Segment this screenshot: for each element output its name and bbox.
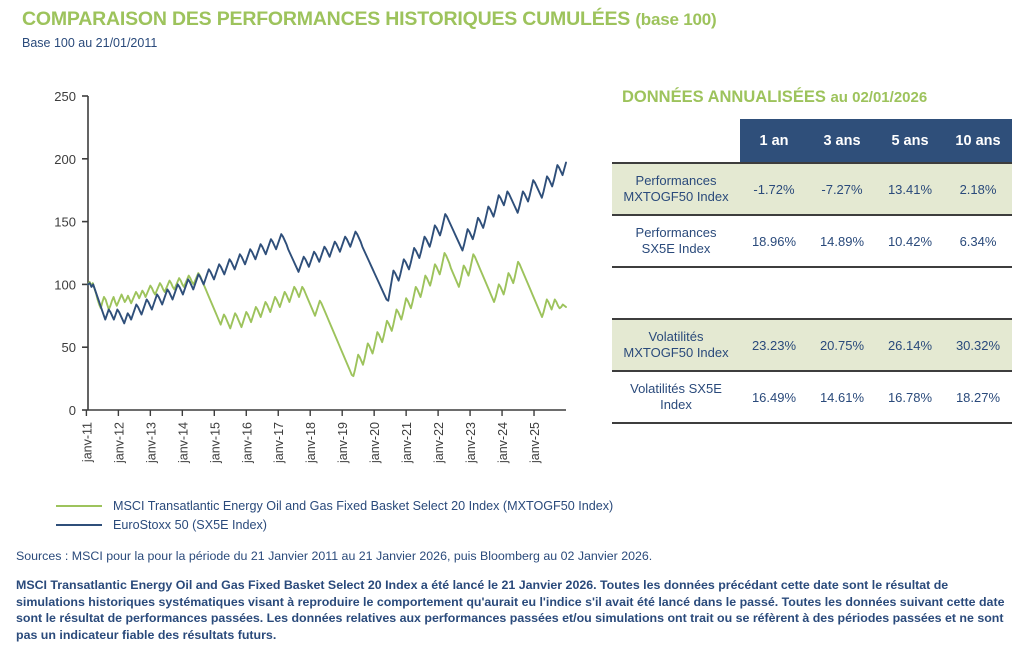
table-row: Volatilités MXTOGF50 Index 23.23% 20.75%…: [612, 319, 1012, 371]
table-header-row: 1 an 3 ans 5 ans 10 ans: [612, 119, 1012, 163]
performance-chart: 050100150200250janv-11janv-12janv-13janv…: [0, 78, 600, 498]
svg-text:janv-16: janv-16: [240, 422, 254, 464]
cell-perf-mxtogf50-3ans: -7.27%: [808, 163, 876, 215]
cell-perf-mxtogf50-1an: -1.72%: [740, 163, 808, 215]
cell-perf-sx5e-1an: 18.96%: [740, 215, 808, 267]
legend-item-sx5e: EuroStoxx 50 (SX5E Index): [56, 515, 676, 534]
cell-vol-mxtogf50-10ans: 30.32%: [944, 319, 1012, 371]
svg-text:janv-17: janv-17: [272, 422, 286, 464]
table-spacer-cell: [612, 267, 1012, 319]
annualised-data-panel: DONNÉES ANNUALISÉES au 02/01/2026 1 an 3…: [612, 88, 1012, 424]
cell-perf-mxtogf50-5ans: 13.41%: [876, 163, 944, 215]
cell-perf-sx5e-5ans: 10.42%: [876, 215, 944, 267]
row-label-line2: Index: [660, 397, 692, 412]
svg-text:janv-14: janv-14: [176, 422, 190, 464]
row-label-line1: Performances: [636, 225, 717, 240]
svg-text:janv-19: janv-19: [336, 422, 350, 464]
page-title-main: COMPARAISON DES PERFORMANCES HISTORIQUES…: [22, 8, 630, 30]
svg-text:0: 0: [69, 403, 76, 418]
row-label-line1: Volatilités: [649, 329, 704, 344]
svg-text:janv-23: janv-23: [464, 422, 478, 464]
page-title: COMPARAISON DES PERFORMANCES HISTORIQUES…: [22, 8, 717, 31]
chart-legend: MSCI Transatlantic Energy Oil and Gas Fi…: [56, 496, 676, 534]
legend-label-mxtogf50: MSCI Transatlantic Energy Oil and Gas Fi…: [113, 499, 613, 513]
svg-text:janv-21: janv-21: [400, 422, 414, 464]
annualised-data-table: 1 an 3 ans 5 ans 10 ans Performances MXT…: [612, 119, 1012, 424]
panel-title-sub: au 02/01/2026: [830, 89, 927, 106]
table-row: Performances MXTOGF50 Index -1.72% -7.27…: [612, 163, 1012, 215]
svg-text:janv-24: janv-24: [496, 422, 510, 464]
cell-perf-sx5e-3ans: 14.89%: [808, 215, 876, 267]
cell-vol-sx5e-5ans: 16.78%: [876, 371, 944, 423]
panel-title-main: DONNÉES ANNUALISÉES: [622, 88, 826, 106]
cell-vol-sx5e-3ans: 14.61%: [808, 371, 876, 423]
row-label-line1: Performances: [636, 173, 717, 188]
cell-vol-mxtogf50-3ans: 20.75%: [808, 319, 876, 371]
cell-vol-sx5e-10ans: 18.27%: [944, 371, 1012, 423]
page-title-sub: (base 100): [635, 10, 716, 29]
legend-line-icon-navy: [56, 524, 102, 526]
row-label-vol-sx5e: Volatilités SX5E Index: [612, 371, 740, 423]
table-header-10ans: 10 ans: [944, 119, 1012, 163]
svg-text:janv-13: janv-13: [144, 422, 158, 464]
svg-text:janv-12: janv-12: [112, 422, 126, 464]
cell-vol-mxtogf50-1an: 23.23%: [740, 319, 808, 371]
svg-text:janv-25: janv-25: [528, 422, 542, 464]
svg-text:250: 250: [54, 89, 76, 104]
table-spacer: [612, 267, 1012, 319]
svg-text:200: 200: [54, 152, 76, 167]
row-label-line2: MXTOGF50 Index: [623, 189, 728, 204]
report-page: COMPARAISON DES PERFORMANCES HISTORIQUES…: [0, 0, 1024, 649]
row-label-line2: MXTOGF50 Index: [623, 345, 728, 360]
legend-item-mxtogf50: MSCI Transatlantic Energy Oil and Gas Fi…: [56, 496, 676, 515]
svg-text:janv-11: janv-11: [80, 422, 94, 463]
table-row: Performances SX5E Index 18.96% 14.89% 10…: [612, 215, 1012, 267]
svg-text:100: 100: [54, 277, 76, 292]
disclaimer-text: MSCI Transatlantic Energy Oil and Gas Fi…: [16, 577, 1013, 643]
svg-text:janv-22: janv-22: [432, 422, 446, 464]
table-header-5ans: 5 ans: [876, 119, 944, 163]
svg-text:150: 150: [54, 215, 76, 230]
table-header-blank: [612, 119, 740, 163]
table-header-3ans: 3 ans: [808, 119, 876, 163]
sources-line: Sources : MSCI pour la pour la période d…: [16, 549, 652, 563]
cell-vol-mxtogf50-5ans: 26.14%: [876, 319, 944, 371]
row-label-vol-mxtogf50: Volatilités MXTOGF50 Index: [612, 319, 740, 371]
cell-vol-sx5e-1an: 16.49%: [740, 371, 808, 423]
row-label-line1: Volatilités SX5E: [630, 381, 722, 396]
cell-perf-sx5e-10ans: 6.34%: [944, 215, 1012, 267]
svg-text:janv-15: janv-15: [208, 422, 222, 464]
row-label-perf-mxtogf50: Performances MXTOGF50 Index: [612, 163, 740, 215]
cell-perf-mxtogf50-10ans: 2.18%: [944, 163, 1012, 215]
row-label-perf-sx5e: Performances SX5E Index: [612, 215, 740, 267]
row-label-line2: SX5E Index: [642, 241, 711, 256]
chart-canvas: 050100150200250janv-11janv-12janv-13janv…: [0, 78, 600, 498]
legend-label-sx5e: EuroStoxx 50 (SX5E Index): [113, 518, 267, 532]
table-row: Volatilités SX5E Index 16.49% 14.61% 16.…: [612, 371, 1012, 423]
svg-text:janv-18: janv-18: [304, 422, 318, 464]
legend-line-icon-green: [56, 505, 102, 507]
svg-text:janv-20: janv-20: [368, 422, 382, 464]
base-reference-line: Base 100 au 21/01/2011: [22, 36, 157, 50]
table-header-1an: 1 an: [740, 119, 808, 163]
panel-title: DONNÉES ANNUALISÉES au 02/01/2026: [622, 88, 1012, 107]
svg-text:50: 50: [62, 340, 76, 355]
